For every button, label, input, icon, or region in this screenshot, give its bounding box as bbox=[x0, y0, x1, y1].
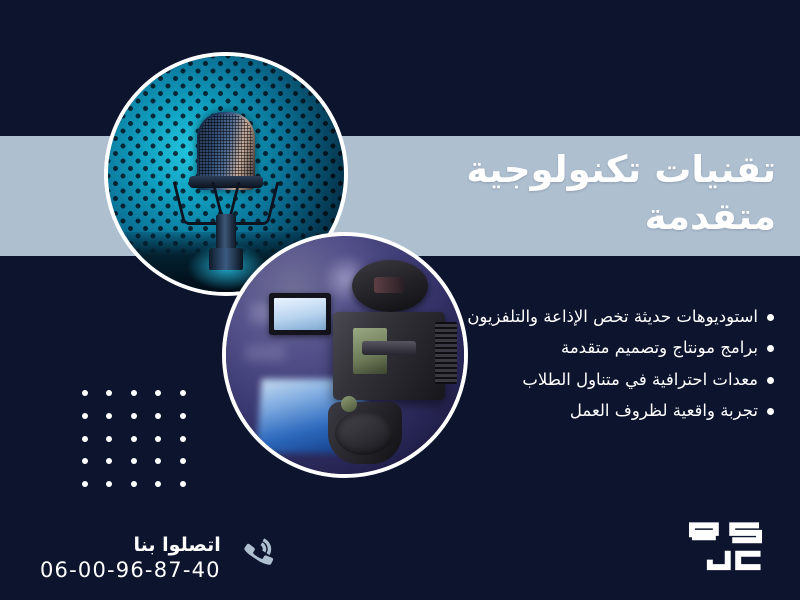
grid-dot bbox=[82, 436, 88, 442]
grid-dot bbox=[82, 413, 88, 419]
ringing-phone-icon bbox=[233, 537, 275, 579]
grid-dot bbox=[155, 458, 161, 464]
camera-flip-screen bbox=[269, 293, 331, 335]
list-item: تجربة واقعية لظروف العمل bbox=[446, 399, 776, 423]
grid-dot bbox=[180, 458, 186, 464]
camera-knob bbox=[341, 396, 357, 412]
grid-dot bbox=[131, 413, 137, 419]
grid-dot bbox=[131, 481, 137, 487]
contact-block[interactable]: اتصلوا بنا 06-00-96-87-40 bbox=[40, 534, 275, 582]
tv-camera-photo bbox=[222, 232, 468, 478]
bokeh-light bbox=[245, 345, 285, 361]
poster-canvas: تقنيات تكنولوجية متقدمة استوديوهات حديثة… bbox=[0, 0, 800, 600]
decorative-dot-grid bbox=[82, 390, 204, 504]
poster-headline: تقنيات تكنولوجية متقدمة bbox=[356, 146, 776, 241]
list-item: برامج مونتاج وتصميم متقدمة bbox=[446, 336, 776, 360]
list-item: استوديوهات حديثة تخص الإذاعة والتلفزيون bbox=[446, 305, 776, 329]
grid-dot bbox=[155, 390, 161, 396]
grid-dot bbox=[106, 436, 112, 442]
grid-dot bbox=[106, 413, 112, 419]
headline-line-1: تقنيات تكنولوجية bbox=[466, 148, 776, 191]
contact-label: اتصلوا بنا bbox=[40, 534, 221, 556]
camera-lens-ring bbox=[335, 411, 393, 455]
grid-dot bbox=[106, 390, 112, 396]
camera-handle bbox=[362, 341, 416, 355]
grid-dot bbox=[131, 390, 137, 396]
list-item-label: برامج مونتاج وتصميم متقدمة bbox=[561, 338, 758, 357]
grid-dot bbox=[180, 390, 186, 396]
list-item-label: استوديوهات حديثة تخص الإذاعة والتلفزيون bbox=[467, 307, 758, 326]
grid-dot bbox=[155, 436, 161, 442]
contact-text: اتصلوا بنا 06-00-96-87-40 bbox=[40, 534, 221, 582]
grid-dot bbox=[155, 481, 161, 487]
grid-dot bbox=[180, 436, 186, 442]
esjc-logo-icon[interactable] bbox=[686, 516, 768, 578]
grid-dot bbox=[82, 458, 88, 464]
grid-dot bbox=[131, 436, 137, 442]
grid-dot bbox=[180, 481, 186, 487]
list-item-label: معدات احترافية في متناول الطلاب bbox=[522, 370, 758, 389]
list-item: معدات احترافية في متناول الطلاب bbox=[446, 368, 776, 392]
grid-dot bbox=[131, 458, 137, 464]
camera-body bbox=[333, 312, 445, 400]
grid-dot bbox=[155, 413, 161, 419]
camera-scene bbox=[226, 236, 464, 474]
grid-dot bbox=[106, 481, 112, 487]
feature-list: استوديوهات حديثة تخص الإذاعة والتلفزيون … bbox=[446, 305, 776, 431]
grid-dot bbox=[180, 413, 186, 419]
camera-viewfinder bbox=[352, 260, 428, 312]
grid-dot bbox=[82, 481, 88, 487]
grid-dot bbox=[82, 390, 88, 396]
headline-line-2: متقدمة bbox=[356, 193, 776, 240]
grid-dot bbox=[106, 458, 112, 464]
list-item-label: تجربة واقعية لظروف العمل bbox=[570, 401, 758, 420]
contact-phone-number[interactable]: 06-00-96-87-40 bbox=[40, 558, 221, 582]
